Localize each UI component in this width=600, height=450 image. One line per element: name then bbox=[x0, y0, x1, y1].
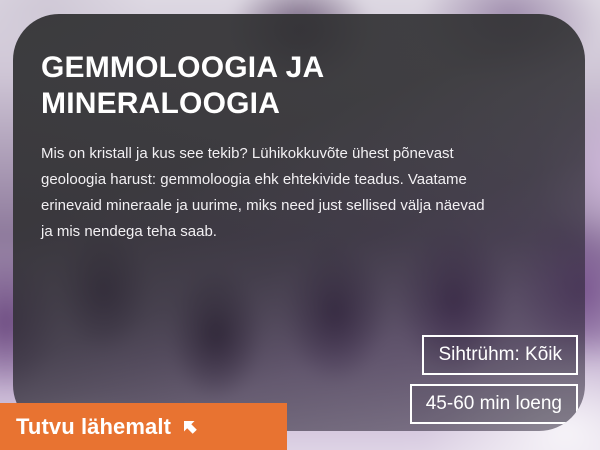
learn-more-button[interactable]: Tutvu lähemalt bbox=[0, 403, 287, 450]
learn-more-label: Tutvu lähemalt bbox=[16, 416, 171, 438]
badge-duration: 45-60 min loeng bbox=[410, 384, 578, 424]
card-text-block: GEMMOLOOGIA JA MINERALOOGIA Mis on krist… bbox=[41, 50, 559, 245]
content-card: GEMMOLOOGIA JA MINERALOOGIA Mis on krist… bbox=[13, 14, 585, 431]
arrow-up-left-icon bbox=[180, 417, 200, 437]
card-description: Mis on kristall ja kus see tekib? Lühiko… bbox=[41, 141, 493, 245]
promo-card-screen: GEMMOLOOGIA JA MINERALOOGIA Mis on krist… bbox=[0, 0, 600, 450]
badge-audience: Sihtrühm: Kõik bbox=[422, 335, 578, 375]
meta-badge-group: Sihtrühm: Kõik 45-60 min loeng bbox=[410, 335, 578, 424]
page-title: GEMMOLOOGIA JA MINERALOOGIA bbox=[41, 50, 371, 122]
